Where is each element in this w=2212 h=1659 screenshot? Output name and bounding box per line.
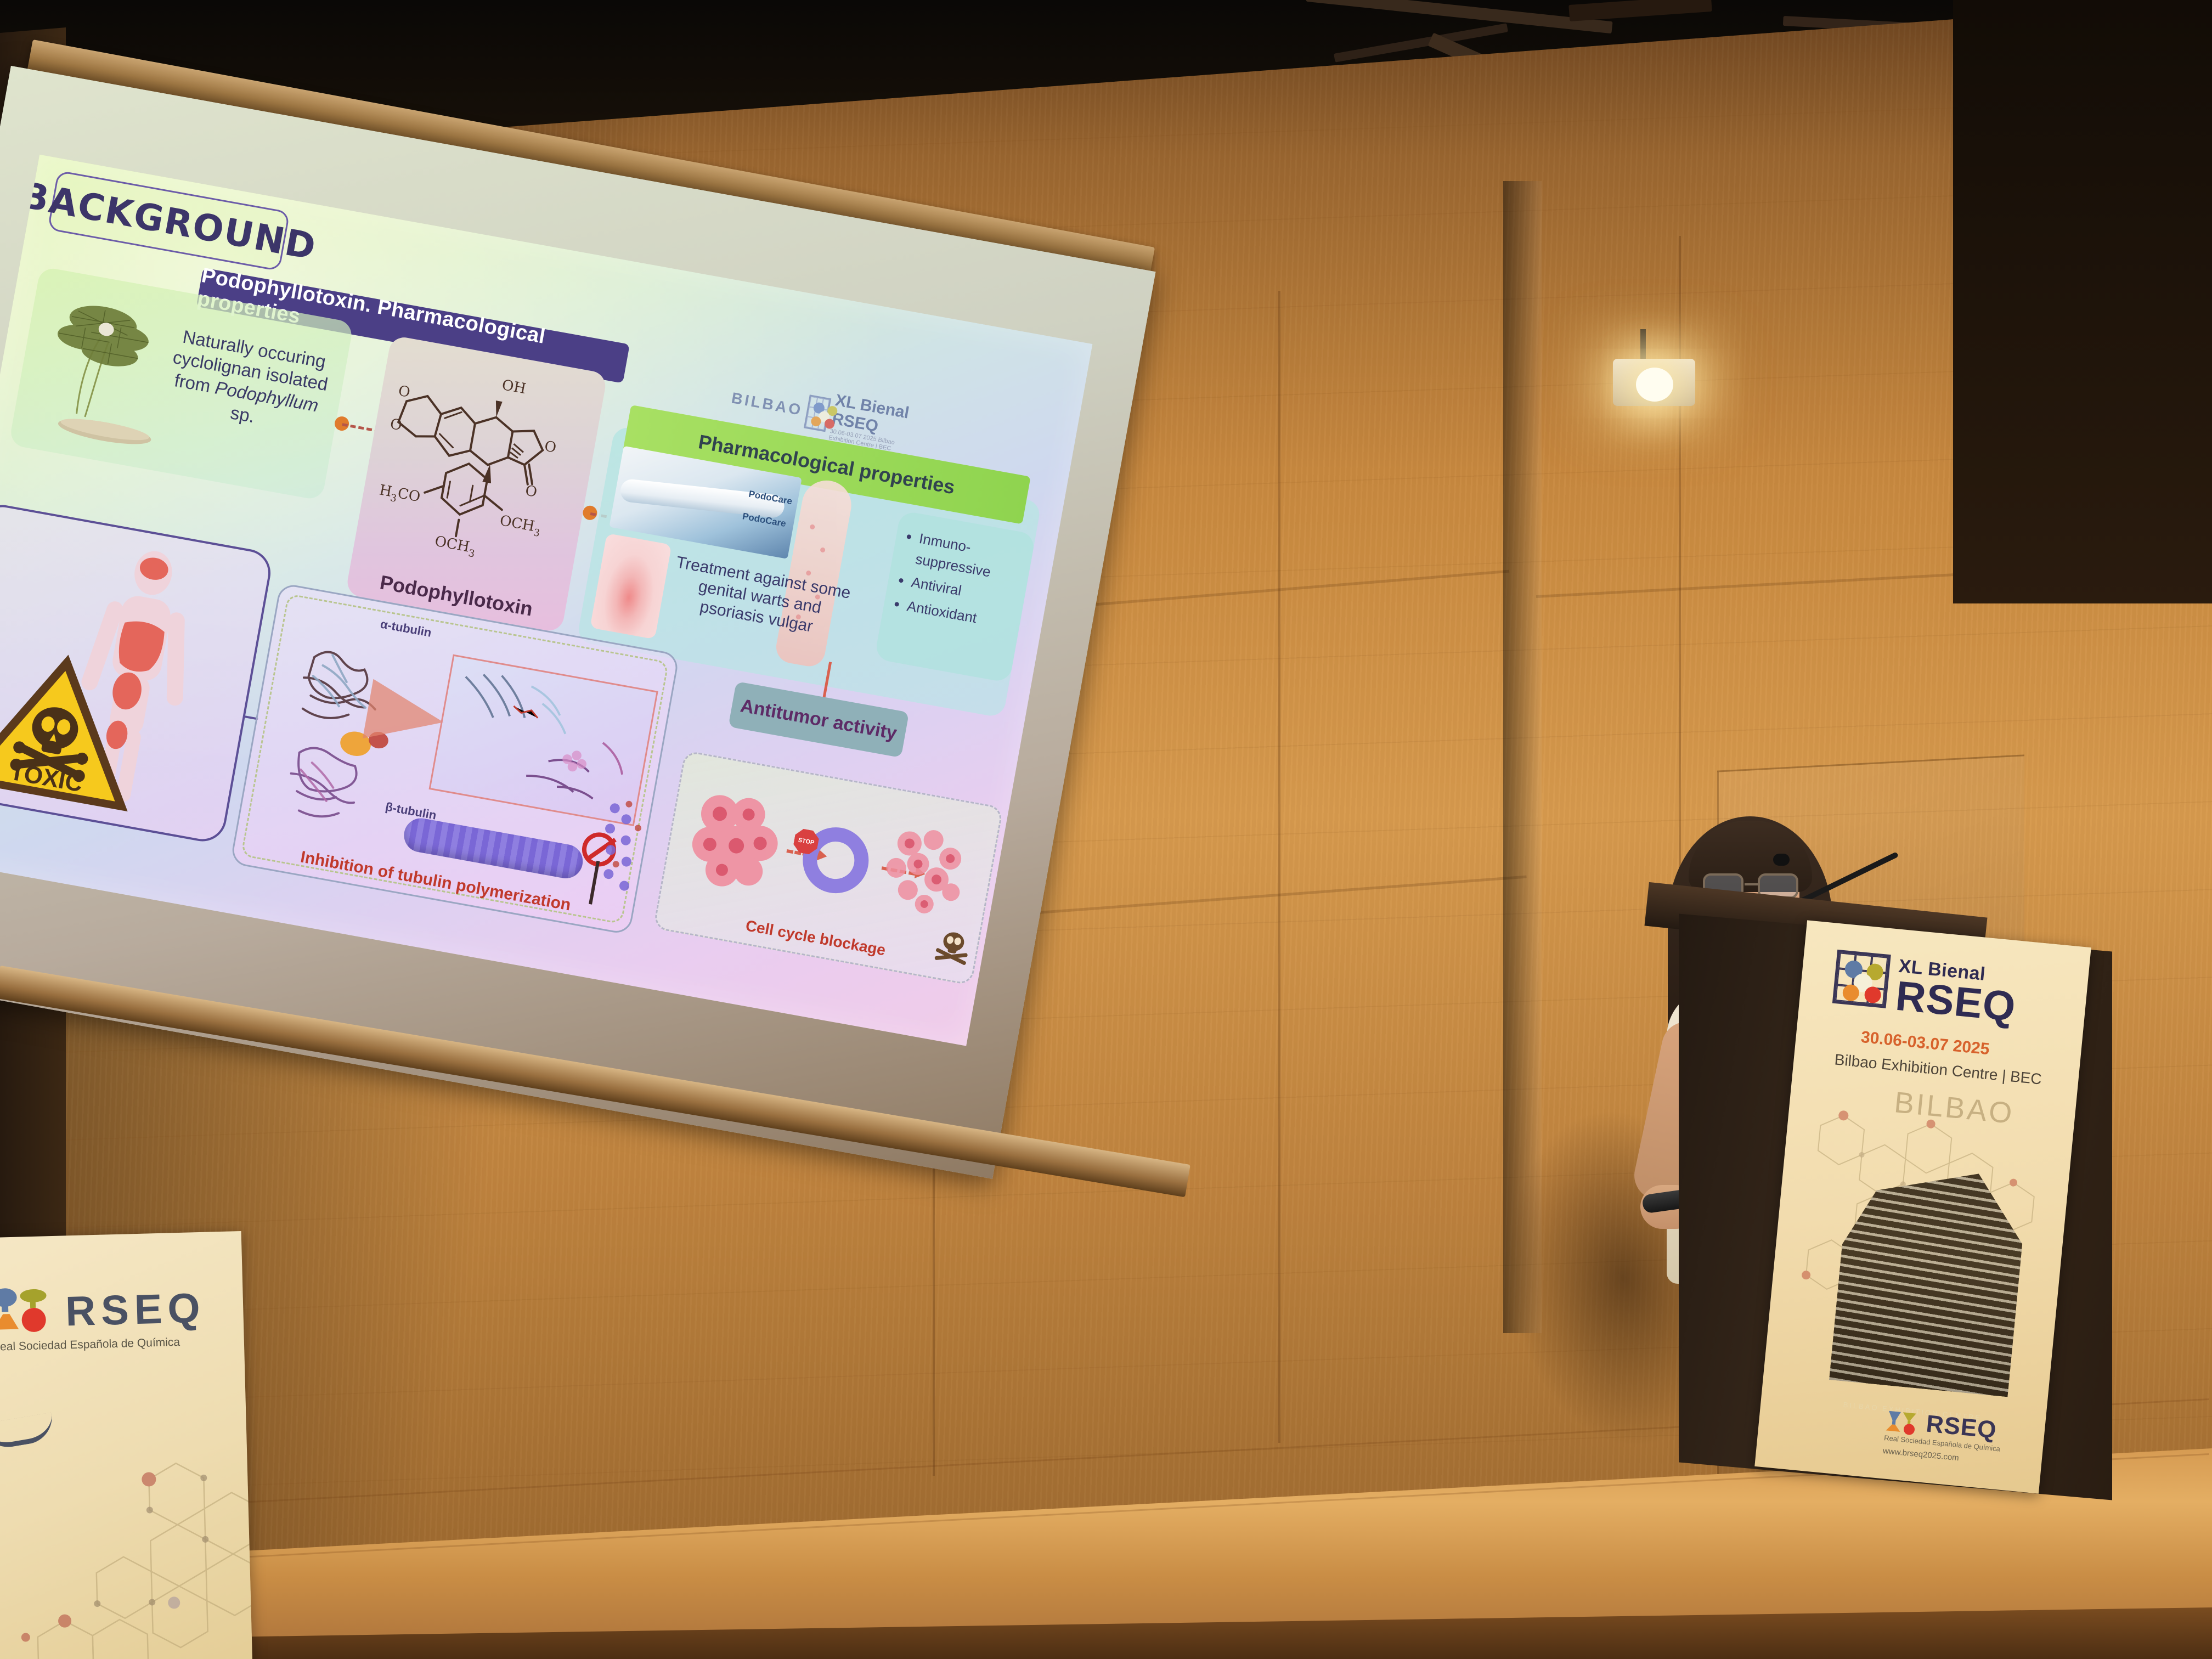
rseq-grid-icon: [804, 394, 831, 432]
svg-text:3: 3: [467, 548, 476, 560]
svg-text:O: O: [389, 416, 403, 434]
card-cell-cycle-blockage: STOP: [653, 750, 1003, 985]
podium-footer-url[interactable]: www.brseq2025.com: [1882, 1446, 1959, 1463]
origin-text: Naturally occuring cyclolignan isolated …: [157, 324, 340, 441]
svg-text:OH: OH: [500, 377, 527, 397]
tumor-cell-cluster-before: [676, 780, 792, 900]
podium-logo-text: XL Bienal RSEQ: [1894, 956, 2019, 1026]
podium-venue: Bilbao Exhibition Centre | BEC: [1833, 1051, 2042, 1088]
podium-dates: 30.06-03.07 2025: [1860, 1028, 1990, 1059]
podium-logo-row: XL Bienal RSEQ: [1832, 950, 2019, 1026]
rseq-grid-icon: [1832, 950, 1891, 1008]
svg-text:O: O: [524, 483, 538, 501]
toxic-warning-icon: TOXIC: [0, 631, 159, 820]
activity-bullet-list: Inmuno-suppressive Antiviral Antioxidant: [905, 528, 1027, 635]
stop-sign-label: STOP: [798, 837, 815, 846]
screenshot-root: BACKGROUND Podophyllotoxin. Pharmacologi…: [0, 0, 2212, 1659]
wall-upper-dark: [1953, 0, 2212, 603]
podophyllum-plant-illustration: [35, 280, 177, 447]
hexagon-molecule-pattern: [12, 1466, 252, 1659]
wall-seam: [1278, 291, 1280, 1443]
rseq-logo-swoosh: [0, 1412, 56, 1451]
stage-spotlight: [1607, 329, 1712, 406]
svg-text:CO: CO: [397, 485, 422, 505]
logo-city-text: BILBAO: [730, 389, 804, 419]
podophyllotoxin-structure-diagram: O O OH O O H3CO OCH3 OCH3: [360, 349, 596, 600]
podium-event-name: RSEQ: [1894, 977, 2017, 1027]
antitumor-chip-label: Antitumor activity: [739, 695, 899, 744]
floor-standing-banner: RSEQ Real Sociedad Española de Química: [0, 1231, 252, 1659]
svg-text:OCH: OCH: [433, 533, 471, 556]
microphone-head: [1773, 854, 1790, 866]
tumor-cell-cluster-after: [868, 812, 990, 939]
card-chemical-structure: O O OH O O H3CO OCH3 OCH3 Podophyllotoxi…: [345, 335, 608, 633]
floor-banner-org: RSEQ: [65, 1284, 206, 1335]
podium-banner: XL Bienal RSEQ 30.06-03.07 2025 Bilbao E…: [1754, 920, 2091, 1493]
floor-banner-logo: RSEQ Real Sociedad Española de Química: [0, 1281, 222, 1354]
card-other-activities: Inmuno-suppressive Antiviral Antioxidant: [874, 510, 1036, 683]
rseq-flasks-icon: [0, 1285, 58, 1340]
rseq-flasks-icon: [1884, 1408, 1922, 1437]
svg-text:O: O: [543, 438, 557, 456]
svg-text:3: 3: [533, 527, 541, 539]
svg-text:OCH: OCH: [499, 512, 536, 535]
svg-text:O: O: [397, 383, 411, 401]
podium-footer: RSEQ Real Sociedad Española de Química w…: [1882, 1406, 2003, 1466]
skin-lesion-illustration: [590, 533, 672, 639]
card-toxicity: TOXIC: [0, 501, 274, 845]
